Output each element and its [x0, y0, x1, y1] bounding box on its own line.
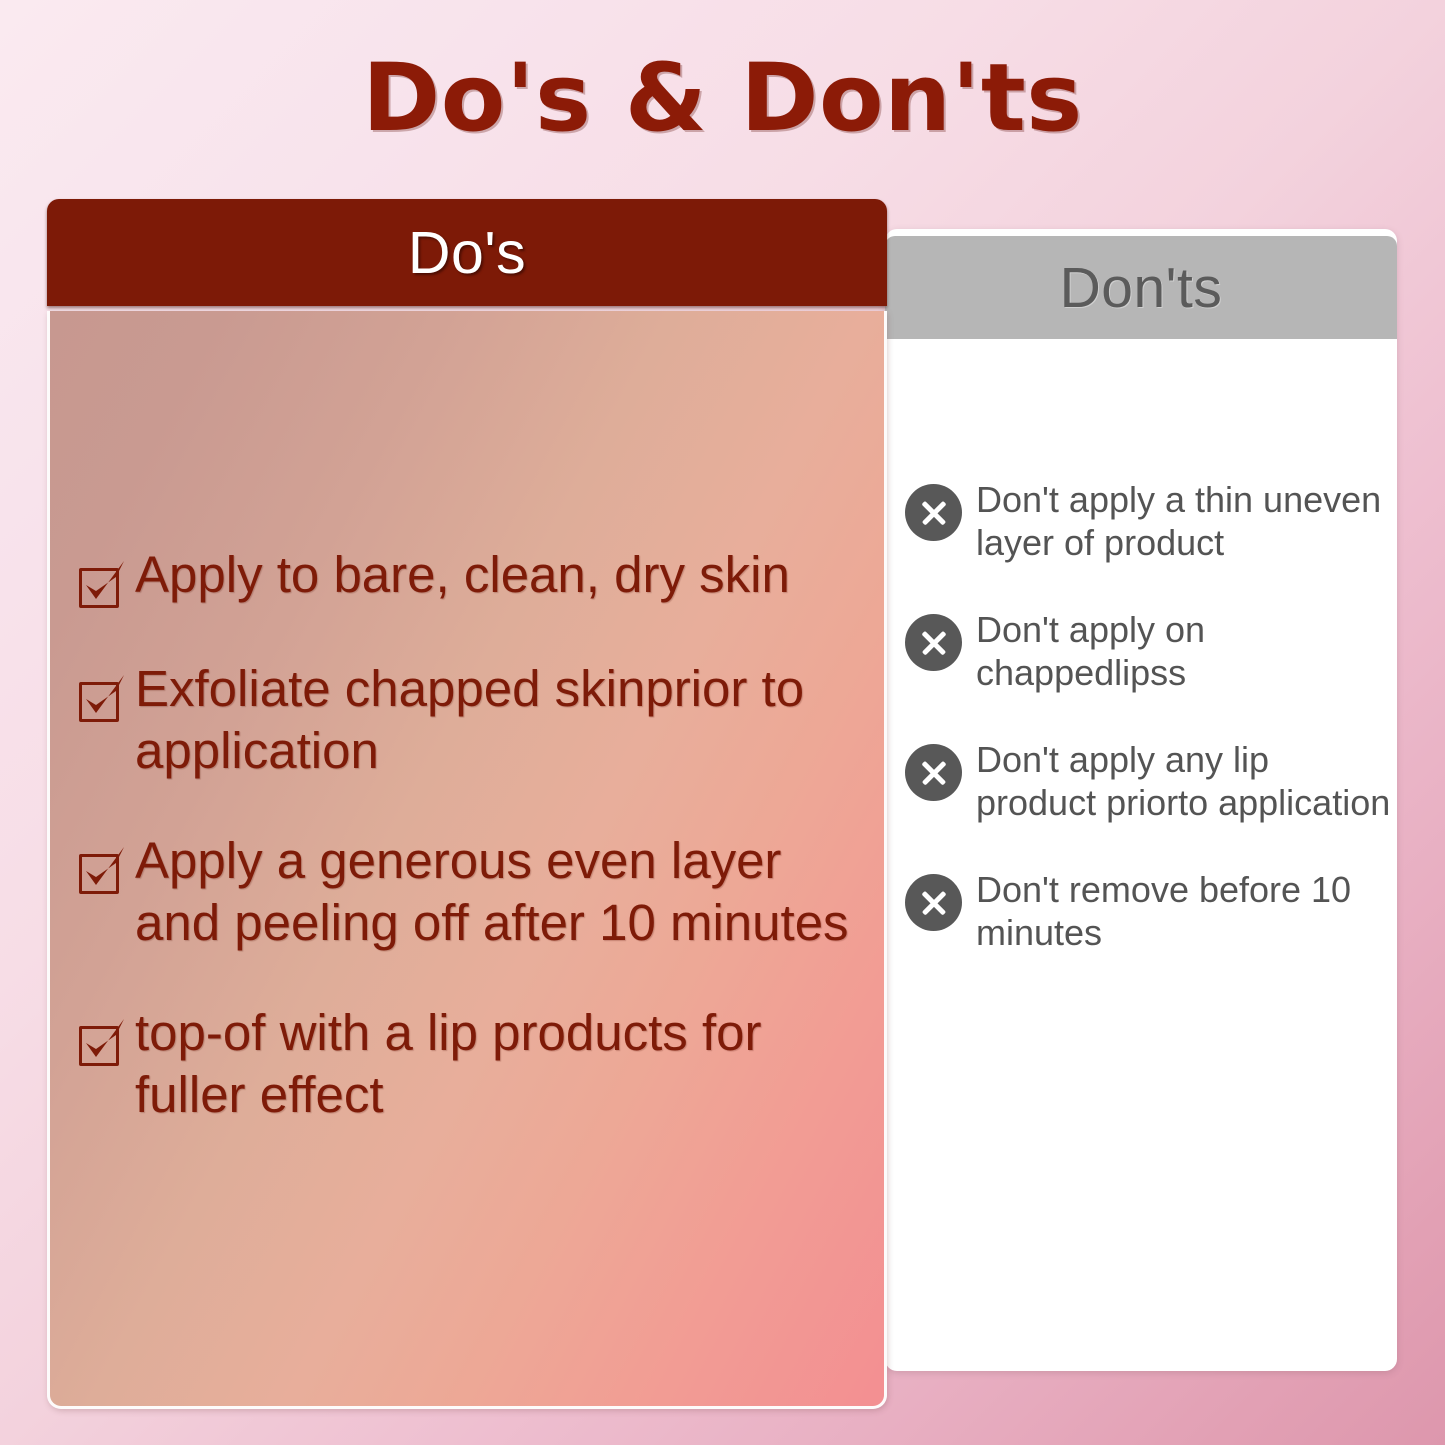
dos-list: Apply to bare, clean, dry skin Exfoliate… — [77, 544, 877, 1174]
do-item-label: Apply to bare, clean, dry skin — [135, 544, 790, 606]
donts-list: Don't apply a thin uneven layer of produ… — [905, 478, 1397, 998]
donts-panel: Don'ts Don't apply a thin uneven layer o… — [885, 229, 1397, 1371]
donts-header-label: Don'ts — [1060, 255, 1223, 321]
dos-header-label: Do's — [408, 219, 526, 287]
list-item: Apply to bare, clean, dry skin — [77, 544, 877, 610]
list-item: Apply a generous even layer and peeling … — [77, 830, 877, 954]
checkbox-check-icon — [77, 558, 129, 610]
do-item-label: Apply a generous even layer and peeling … — [135, 830, 875, 954]
checkbox-check-icon — [77, 844, 129, 896]
dos-panel: Do's Apply to bare, clean, dry skin — [47, 199, 887, 1409]
checkbox-check-icon — [77, 1016, 129, 1068]
do-item-label: top-of with a lip products for fuller ef… — [135, 1002, 875, 1126]
circle-x-icon — [905, 484, 962, 541]
list-item: Don't apply on chappedlipss — [905, 608, 1397, 694]
dont-item-label: Don't apply on chappedlipss — [976, 608, 1391, 694]
dos-panel-body: Apply to bare, clean, dry skin Exfoliate… — [47, 311, 887, 1409]
list-item: Exfoliate chapped skinprior to applicati… — [77, 658, 877, 782]
list-item: top-of with a lip products for fuller ef… — [77, 1002, 877, 1126]
do-item-label: Exfoliate chapped skinprior to applicati… — [135, 658, 875, 782]
list-item: Don't remove before 10 minutes — [905, 868, 1397, 954]
circle-x-icon — [905, 744, 962, 801]
list-item: Don't apply a thin uneven layer of produ… — [905, 478, 1397, 564]
list-item: Don't apply any lip product priorto appl… — [905, 738, 1397, 824]
dos-panel-header: Do's — [47, 199, 887, 306]
dont-item-label: Don't apply a thin uneven layer of produ… — [976, 478, 1391, 564]
circle-x-icon — [905, 614, 962, 671]
page-title: Do's & Don'ts — [0, 44, 1445, 153]
dont-item-label: Don't apply any lip product priorto appl… — [976, 738, 1391, 824]
circle-x-icon — [905, 874, 962, 931]
checkbox-check-icon — [77, 672, 129, 724]
dont-item-label: Don't remove before 10 minutes — [976, 868, 1391, 954]
donts-panel-header: Don'ts — [885, 236, 1397, 339]
